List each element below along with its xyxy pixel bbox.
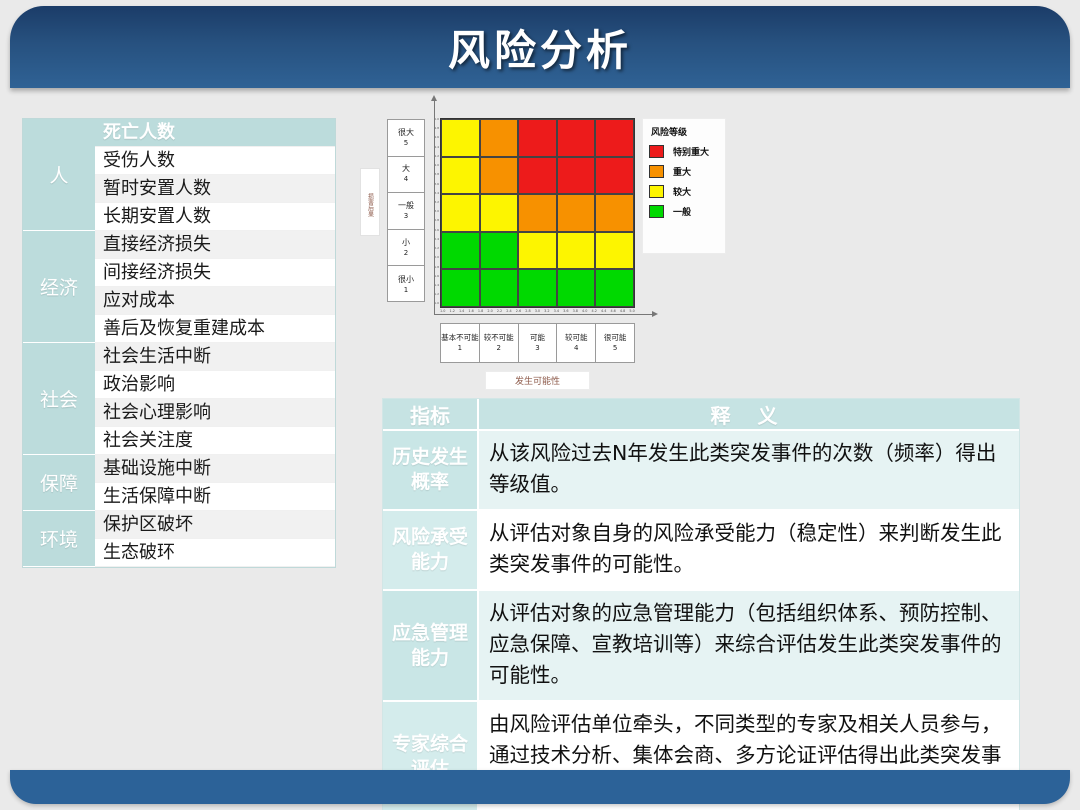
header-indicator: 指标 [383, 399, 479, 429]
legend-item: 特别重大 [649, 145, 719, 158]
matrix-cell [595, 157, 634, 195]
table-row: 历史发生概率从该风险过去N年发生此类突发事件的次数（频率）得出等级值。 [383, 429, 1019, 509]
x-axis-ticks: 1.01.21.41.61.82.02.22.42.62.83.03.23.43… [440, 309, 635, 316]
y-axis-category: 一般3 [388, 193, 424, 230]
title-banner: 风险分析 [10, 6, 1070, 88]
legend-swatch [649, 165, 664, 178]
legend-label: 一般 [673, 205, 691, 218]
matrix-cell [480, 119, 519, 157]
indicator-item: 社会心理影响 [95, 399, 335, 427]
tick-label: 1.2 [449, 309, 454, 316]
x-axis-category-box: 基本不可能1较不可能2可能3较可能4很可能5 [440, 323, 635, 363]
legend-label: 特别重大 [673, 145, 709, 158]
indicator-item: 直接经济损失 [95, 231, 335, 259]
indicator-item: 社会生活中断 [95, 343, 335, 371]
legend-label: 重大 [673, 165, 691, 178]
y-axis-title: 损害后果 [360, 168, 380, 236]
tick-label: 3.6 [563, 309, 568, 316]
matrix-cell [557, 269, 596, 307]
matrix-cell [595, 232, 634, 270]
indicator-item: 暂时安置人数 [95, 175, 335, 203]
y-axis-category: 很大5 [388, 120, 424, 157]
legend-item: 较大 [649, 185, 719, 198]
indicator-category-table: 人死亡人数受伤人数暂时安置人数长期安置人数经济直接经济损失间接经济损失应对成本善… [22, 118, 336, 568]
tick-label: 1.6 [468, 309, 473, 316]
indicator-item: 应对成本 [95, 287, 335, 315]
tick-label: 1.4 [459, 309, 464, 316]
legend-item: 一般 [649, 205, 719, 218]
tick-label: 2.6 [516, 309, 521, 316]
matrix-cell [595, 269, 634, 307]
legend-label: 较大 [673, 185, 691, 198]
matrix-cell [518, 232, 557, 270]
matrix-cell [441, 232, 480, 270]
tick-label: 4.8 [620, 309, 625, 316]
tick-label: 1.8 [478, 309, 483, 316]
tick-label: 4.4 [601, 309, 606, 316]
tick-label: 3.2 [544, 309, 549, 316]
matrix-cell [480, 269, 519, 307]
legend-swatch [649, 145, 664, 158]
matrix-cell [557, 119, 596, 157]
x-axis-category: 基本不可能1 [441, 324, 480, 362]
y-axis-category-box: 很大5大4一般3小2很小1 [387, 119, 425, 302]
table-header-row: 指标 释 义 [383, 399, 1019, 429]
matrix-cell [441, 119, 480, 157]
page-title: 风险分析 [448, 17, 632, 78]
x-axis-title: 发生可能性 [485, 371, 590, 390]
definition-cell: 从评估对象的应急管理能力（包括组织体系、预防控制、应急保障、宣教培训等）来综合评… [479, 591, 1019, 700]
matrix-cell [557, 194, 596, 232]
tick-label: 5.0 [629, 309, 634, 316]
matrix-cell [595, 119, 634, 157]
definition-cell: 从该风险过去N年发生此类突发事件的次数（频率）得出等级值。 [479, 431, 1019, 509]
indicator-item: 长期安置人数 [95, 203, 335, 231]
matrix-cell [595, 194, 634, 232]
definition-cell: 从评估对象自身的风险承受能力（稳定性）来判断发生此类突发事件的可能性。 [479, 511, 1019, 589]
tick-label: 2.0 [487, 309, 492, 316]
indicator-item: 政治影响 [95, 371, 335, 399]
tick-label: 2.4 [506, 309, 511, 316]
category-cell: 社会 [23, 343, 95, 455]
x-axis-category: 可能3 [519, 324, 558, 362]
indicator-definition-table: 指标 释 义 历史发生概率从该风险过去N年发生此类突发事件的次数（频率）得出等级… [382, 398, 1020, 810]
tick-label: 4.6 [610, 309, 615, 316]
matrix-cell [441, 157, 480, 195]
x-axis-category: 较可能4 [557, 324, 596, 362]
indicator-item: 社会关注度 [95, 427, 335, 455]
indicator-item: 死亡人数 [95, 119, 335, 147]
y-axis-category: 小2 [388, 230, 424, 267]
category-cell: 环境 [23, 511, 95, 567]
indicator-item: 基础设施中断 [95, 455, 335, 483]
matrix-cell [557, 157, 596, 195]
tick-label: 3.0 [535, 309, 540, 316]
matrix-cell [441, 269, 480, 307]
matrix-cell [518, 269, 557, 307]
category-cell: 保障 [23, 455, 95, 511]
indicator-item: 间接经济损失 [95, 259, 335, 287]
legend-item: 重大 [649, 165, 719, 178]
table-row: 风险承受能力从评估对象自身的风险承受能力（稳定性）来判断发生此类突发事件的可能性… [383, 509, 1019, 589]
y-axis-category: 大4 [388, 157, 424, 194]
indicator-item: 保护区破坏 [95, 511, 335, 539]
indicator-item: 善后及恢复重建成本 [95, 315, 335, 343]
x-axis-category: 很可能5 [596, 324, 634, 362]
matrix-cell [480, 194, 519, 232]
risk-level-legend: 风险等级 特别重大重大较大一般 [642, 118, 726, 254]
indicator-name-cell: 应急管理能力 [383, 591, 479, 700]
indicator-item: 生态破环 [95, 539, 335, 567]
matrix-cell [518, 194, 557, 232]
risk-matrix-chart: 损害后果 很大5大4一般3小2很小1 5.04.84.64.44.24.03.8… [360, 96, 730, 396]
indicator-name-cell: 风险承受能力 [383, 511, 479, 589]
risk-matrix-grid [440, 118, 635, 308]
indicator-item: 生活保障中断 [95, 483, 335, 511]
category-cell: 经济 [23, 231, 95, 343]
matrix-cell [557, 232, 596, 270]
legend-title: 风险等级 [649, 125, 719, 138]
header-definition: 释 义 [479, 399, 1019, 429]
tick-label: 2.8 [525, 309, 530, 316]
slide-root: 风险分析 人死亡人数受伤人数暂时安置人数长期安置人数经济直接经济损失间接经济损失… [0, 0, 1080, 810]
table-row: 应急管理能力从评估对象的应急管理能力（包括组织体系、预防控制、应急保障、宣教培训… [383, 589, 1019, 700]
tick-label: 4.2 [592, 309, 597, 316]
matrix-cell [518, 119, 557, 157]
indicator-item: 受伤人数 [95, 147, 335, 175]
y-axis-line [434, 100, 435, 314]
matrix-cell [480, 232, 519, 270]
bottom-banner [10, 770, 1070, 804]
legend-swatch [649, 185, 664, 198]
indicator-name-cell: 历史发生概率 [383, 431, 479, 509]
matrix-cell [480, 157, 519, 195]
legend-swatch [649, 205, 664, 218]
matrix-cell [441, 194, 480, 232]
tick-label: 1.0 [440, 309, 445, 316]
tick-label: 3.8 [573, 309, 578, 316]
y-axis-category: 很小1 [388, 266, 424, 303]
tick-label: 2.2 [497, 309, 502, 316]
tick-label: 4.0 [582, 309, 587, 316]
matrix-cell [518, 157, 557, 195]
tick-label: 3.4 [554, 309, 559, 316]
category-cell: 人 [23, 119, 95, 231]
x-axis-category: 较不可能2 [480, 324, 519, 362]
